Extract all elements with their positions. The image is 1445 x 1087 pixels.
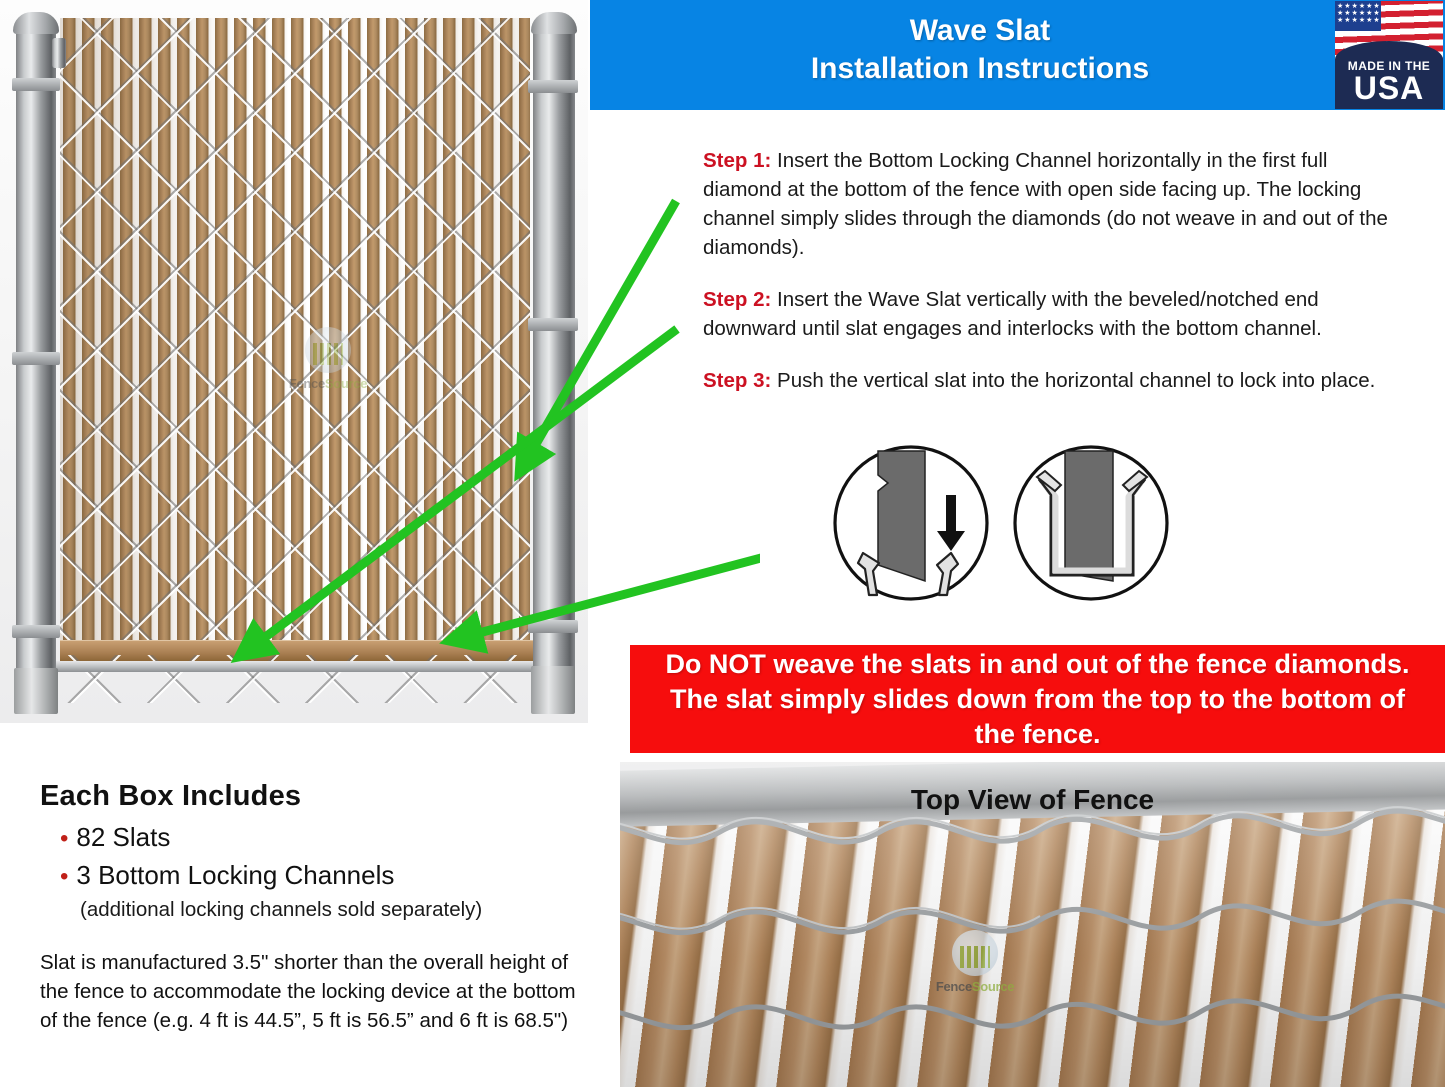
step-2-text: Insert the Wave Slat vertically with the… — [703, 288, 1322, 340]
post-cap-left — [13, 12, 59, 34]
step-1-text: Insert the Bottom Locking Channel horizo… — [703, 149, 1388, 259]
bullet-dot-icon-2: • — [60, 859, 68, 895]
warning-text: Do NOT weave the slats in and out of the… — [648, 647, 1428, 752]
fence-installation-photo: FenceSource — [0, 0, 588, 723]
fence-mesh-area — [60, 18, 530, 668]
bullet-dot-icon: • — [60, 821, 68, 857]
box-bullet-item-1: • 82 Slats — [60, 819, 600, 857]
post-band-right-mid — [528, 318, 578, 331]
box-bullet-label-1: 82 Slats — [76, 819, 170, 855]
post-band-right-bottom — [528, 620, 578, 633]
topview-fencesource-watermark: FenceSource — [910, 930, 1040, 1010]
fence-post-right — [533, 30, 575, 680]
post-band-left-bottom — [12, 625, 60, 638]
step-3-label: Step 3: — [703, 369, 771, 392]
each-box-includes-section: Each Box Includes • 82 Slats • 3 Bottom … — [40, 780, 600, 1035]
step-1-label: Step 1: — [703, 149, 771, 172]
box-info-heading: Each Box Includes — [40, 780, 600, 813]
top-view-photo: Top View of Fence — [620, 762, 1445, 1087]
step-1: Step 1: Insert the Bottom Locking Channe… — [703, 146, 1393, 262]
infographic-page: FenceSource Wave Slat Installation Instr… — [0, 0, 1445, 1087]
topview-watermark-picket-icon — [960, 946, 990, 968]
step-2-label: Step 2: — [703, 288, 771, 311]
chainlink-mesh-diagonal-b — [60, 18, 530, 668]
title-line-2: Installation Instructions — [590, 50, 1370, 88]
step-3-text: Push the vertical slat into the horizont… — [771, 369, 1375, 392]
title-line-1: Wave Slat — [590, 12, 1370, 50]
locking-channels-note: (additional locking channels sold separa… — [80, 896, 600, 924]
box-bullet-label-2: 3 Bottom Locking Channels — [76, 857, 394, 893]
bottom-rail — [40, 661, 550, 672]
box-bullet-item-2: • 3 Bottom Locking Channels — [60, 857, 600, 895]
slat-locked-in-channel-diagram — [1015, 447, 1167, 599]
post-band-left-top — [12, 78, 60, 91]
topview-watermark-text-source: Source — [972, 979, 1014, 994]
post-footing-left — [14, 668, 58, 714]
badge-line-2: USA — [1335, 71, 1443, 105]
step-2: Step 2: Insert the Wave Slat vertically … — [703, 285, 1393, 343]
brace-arm — [52, 38, 66, 68]
topview-watermark-text-fence: Fence — [936, 979, 972, 994]
post-footing-right — [531, 666, 575, 714]
slat-dimensions-note: Slat is manufactured 3.5" shorter than t… — [40, 948, 595, 1035]
flag-canton-icon: ★★★★★★★★★★★★★★★★★★ — [1335, 1, 1381, 31]
locking-mechanism-diagrams — [833, 443, 1173, 603]
topview-watermark-text: FenceSource — [936, 979, 1014, 994]
topview-watermark-circle-icon — [952, 930, 998, 976]
post-cap-right — [531, 12, 577, 34]
step-3: Step 3: Push the vertical slat into the … — [703, 366, 1393, 395]
header-banner: Wave Slat Installation Instructions ★★★★… — [590, 0, 1445, 110]
made-in-usa-badge: ★★★★★★★★★★★★★★★★★★ MADE IN THE USA — [1335, 1, 1443, 109]
instruction-steps: Step 1: Insert the Bottom Locking Channe… — [703, 146, 1393, 418]
post-band-left-mid — [12, 352, 60, 365]
post-band-right-top — [528, 80, 578, 93]
slat-inserting-down-diagram — [835, 447, 987, 599]
warning-banner: Do NOT weave the slats in and out of the… — [630, 645, 1445, 753]
top-view-label: Top View of Fence — [620, 784, 1445, 816]
page-title: Wave Slat Installation Instructions — [590, 12, 1370, 88]
